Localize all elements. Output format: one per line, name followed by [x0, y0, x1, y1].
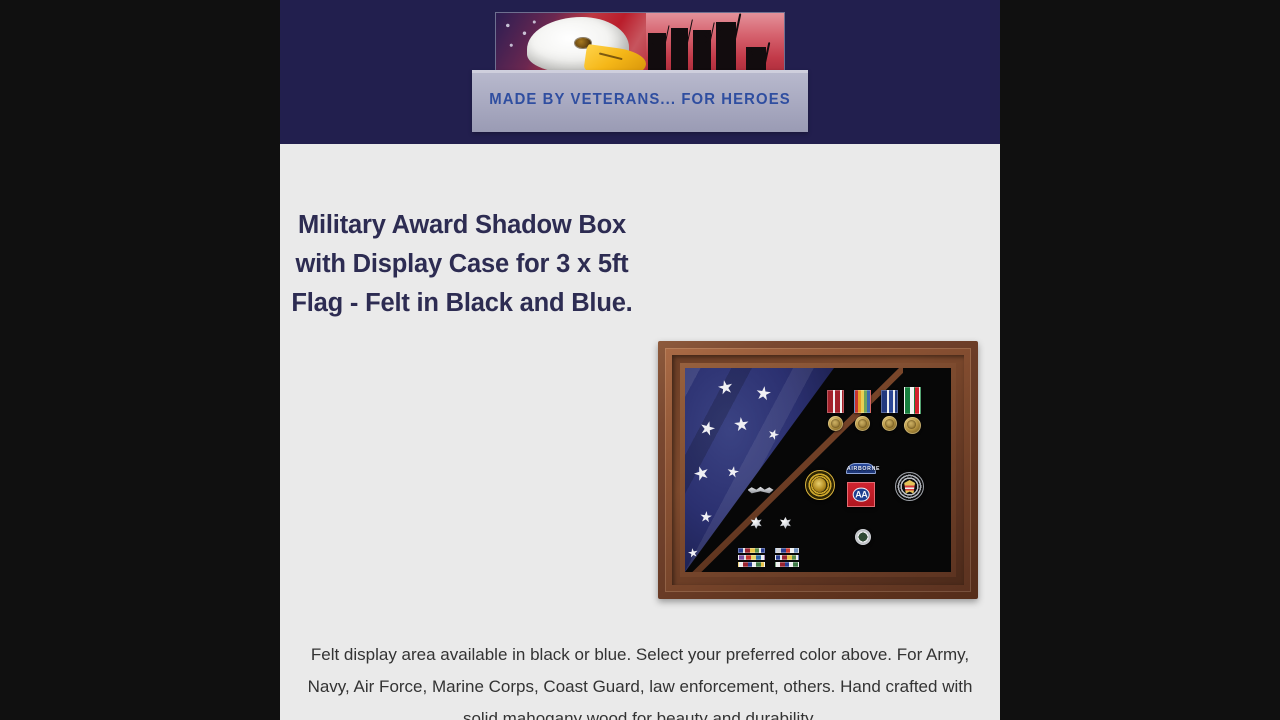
medal-ribbon — [827, 390, 844, 413]
ribbon-bar-row — [738, 555, 765, 560]
medal-kuwait-liberation — [904, 387, 921, 414]
soldier-silhouettes-icon — [646, 20, 778, 76]
ribbon-bar-row — [775, 562, 799, 567]
medal-disc — [882, 416, 897, 431]
page-content: MADE BY VETERANS... FOR HEROES Military … — [280, 0, 1000, 720]
soldier-silhouette — [716, 22, 736, 76]
ribbon-bar-row — [775, 548, 799, 553]
medal-blue-white-ribbon — [881, 390, 898, 413]
medal-ribbon — [881, 390, 898, 413]
airborne-tab: AIRBORNE — [846, 463, 876, 474]
ribbon-bar-row — [738, 548, 765, 553]
hero-section: Military Award Shadow Box with Display C… — [280, 144, 1000, 444]
page-title: Military Award Shadow Box with Display C… — [286, 206, 638, 323]
medal-rainbow-ribbon — [854, 390, 871, 413]
us-army-seal-patch — [805, 470, 835, 500]
82nd-airborne-patch: AA — [847, 482, 875, 507]
medal-ribbon — [904, 387, 921, 414]
aa-patch-label: AA — [853, 487, 870, 502]
medal-ribbon — [854, 390, 871, 413]
silver-service-medallion — [895, 472, 924, 501]
display-case-interior: AIRBORNE AA — [685, 368, 951, 572]
main-content: Military Award Shadow Box with Display C… — [280, 144, 1000, 720]
product-description: Felt display area available in black or … — [280, 639, 1000, 720]
screen: MADE BY VETERANS... FOR HEROES Military … — [0, 0, 1280, 720]
tagline-text: MADE BY VETERANS... FOR HEROES — [479, 91, 802, 109]
tagline-ribbon: MADE BY VETERANS... FOR HEROES — [472, 70, 808, 132]
medal-red-white-ribbon — [827, 390, 844, 413]
site-header: MADE BY VETERANS... FOR HEROES — [280, 0, 1000, 144]
ribbon-bar-row — [775, 555, 799, 560]
product-image-shadow-box[interactable]: AIRBORNE AA — [658, 341, 978, 599]
site-logo[interactable]: MADE BY VETERANS... FOR HEROES — [472, 8, 808, 136]
ribbon-bar-row — [738, 562, 765, 567]
